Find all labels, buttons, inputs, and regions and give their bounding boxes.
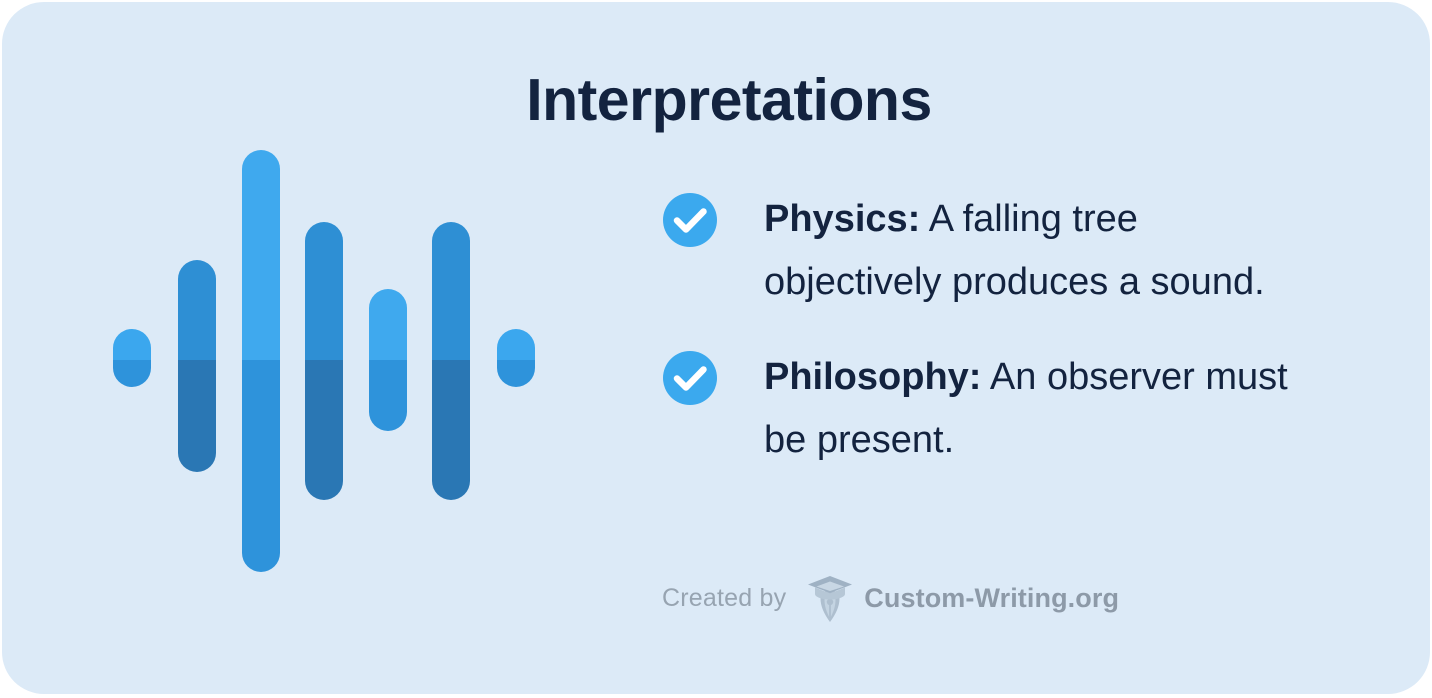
attribution-footer: Created by Custom-Writing.org	[662, 574, 1322, 622]
waveform-bar	[242, 150, 280, 572]
waveform-bar	[305, 222, 343, 500]
check-circle-icon	[662, 350, 718, 406]
waveform-bar-upper	[369, 289, 407, 360]
waveform-bar-upper	[113, 329, 151, 360]
brand-name: Custom-Writing.org	[864, 583, 1119, 614]
waveform-bar-upper	[178, 260, 216, 360]
list-item: Philosophy: An observer must be present.	[662, 346, 1322, 472]
waveform-bar-lower	[369, 360, 407, 431]
created-by-label: Created by	[662, 584, 786, 613]
waveform-bar	[432, 222, 470, 500]
waveform-bar-lower	[178, 360, 216, 472]
waveform-bar-lower	[305, 360, 343, 500]
list-item-text: Physics: A falling tree objectively prod…	[764, 188, 1322, 314]
interpretations-list: Physics: A falling tree objectively prod…	[662, 188, 1322, 504]
waveform-bar	[178, 260, 216, 472]
list-item-lead: Physics:	[764, 198, 920, 240]
waveform-bar-upper	[497, 329, 535, 360]
waveform-bar	[113, 329, 151, 387]
audio-waveform-graphic	[97, 142, 557, 587]
waveform-bar-upper	[432, 222, 470, 360]
list-item-text: Philosophy: An observer must be present.	[764, 346, 1322, 472]
waveform-bar	[369, 289, 407, 431]
waveform-bar-upper	[305, 222, 343, 360]
waveform-bar-lower	[113, 360, 151, 387]
list-item-lead: Philosophy:	[764, 356, 981, 398]
waveform-bar-upper	[242, 150, 280, 360]
waveform-bar-lower	[242, 360, 280, 572]
waveform-bar-lower	[497, 360, 535, 387]
waveform-bar-lower	[432, 360, 470, 500]
list-item: Physics: A falling tree objectively prod…	[662, 188, 1322, 314]
info-card: Interpretations Physics: A falling tree …	[2, 2, 1430, 694]
waveform-bar	[497, 329, 535, 387]
graduation-cap-pen-nib-logo	[804, 572, 856, 624]
page-title: Interpretations	[422, 64, 1036, 136]
check-circle-icon	[662, 192, 718, 248]
